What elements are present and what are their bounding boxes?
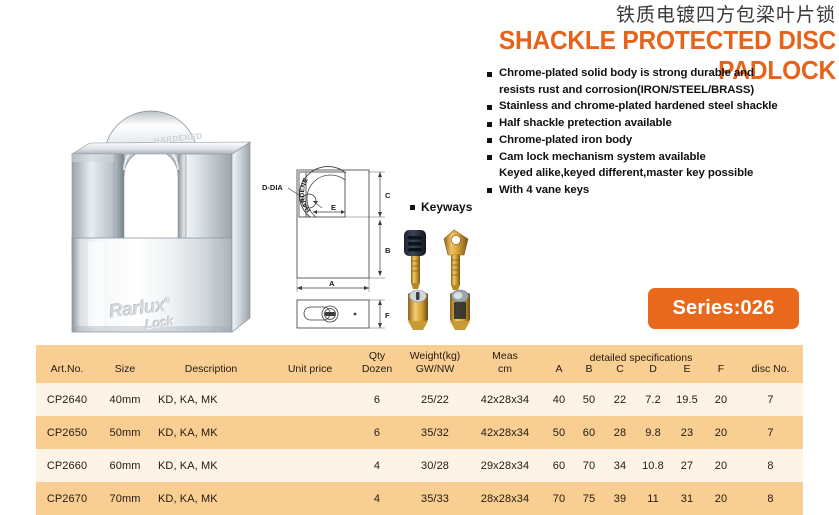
cell-a: 40 bbox=[544, 383, 574, 416]
feature-item: With 4 vane keys bbox=[487, 183, 837, 197]
cell-c: 28 bbox=[604, 416, 636, 449]
feature-item-continuation: resists rust and corrosion(IRON/STEEL/BR… bbox=[499, 83, 837, 97]
key-black-head bbox=[404, 230, 426, 289]
bullet-square-icon bbox=[410, 205, 415, 210]
feature-item-text: With 4 vane keys bbox=[499, 183, 589, 197]
cell-qty-dozen: 4 bbox=[350, 449, 404, 482]
keyways-images bbox=[398, 227, 498, 332]
feature-item-text: Cam lock mechanism system available bbox=[499, 150, 706, 164]
title-chinese: 铁质电镀四方包梁叶片锁 bbox=[404, 4, 836, 26]
cell-f: 20 bbox=[704, 416, 738, 449]
cell-weight: 35/33 bbox=[404, 482, 466, 515]
feature-item: Chrome-plated iron body bbox=[487, 133, 837, 147]
cell-c: 34 bbox=[604, 449, 636, 482]
cell-d: 11 bbox=[636, 482, 670, 515]
header-line-2: A bbox=[544, 363, 574, 375]
cell-e: 31 bbox=[670, 482, 704, 515]
header-line-2: B bbox=[574, 363, 604, 375]
cell-weight: 25/22 bbox=[404, 383, 466, 416]
cell-e: 27 bbox=[670, 449, 704, 482]
table-header-cell: E bbox=[670, 345, 704, 383]
feature-item-continuation: Keyed alike,keyed different,master key p… bbox=[499, 166, 837, 180]
cell-c: 22 bbox=[604, 383, 636, 416]
label-f: F bbox=[385, 311, 390, 320]
header-line-1: Unit price bbox=[270, 363, 350, 375]
cell-c: 39 bbox=[604, 482, 636, 515]
cell-f: 20 bbox=[704, 383, 738, 416]
table-row: CP264040mmKD, KA, MK625/2242x28x34405022… bbox=[36, 383, 803, 416]
cell-meas: 29x28x34 bbox=[466, 449, 544, 482]
dimension-diagram: D-DIA E C B A F HARDENE bbox=[258, 160, 408, 335]
cell-art-no: CP2640 bbox=[36, 383, 98, 416]
feature-item: Half shackle pretection available bbox=[487, 116, 837, 130]
cell-art-no: CP2670 bbox=[36, 482, 98, 515]
table-header-cell: Art.No. bbox=[36, 345, 98, 383]
table-header-cell: B bbox=[574, 345, 604, 383]
bullet-square-icon bbox=[487, 188, 492, 193]
table-header-cell: Size bbox=[98, 345, 152, 383]
table-row: CP266060mmKD, KA, MK430/2829x28x34607034… bbox=[36, 449, 803, 482]
cell-weight: 30/28 bbox=[404, 449, 466, 482]
bullet-square-icon bbox=[487, 138, 492, 143]
cell-description: KD, KA, MK bbox=[152, 383, 270, 416]
cell-meas: 42x28x34 bbox=[466, 416, 544, 449]
label-a: A bbox=[329, 279, 335, 288]
table-header-cell: A bbox=[544, 345, 574, 383]
cell-qty-dozen: 6 bbox=[350, 383, 404, 416]
cell-b: 70 bbox=[574, 449, 604, 482]
cell-b: 75 bbox=[574, 482, 604, 515]
header-line-2: C bbox=[604, 363, 636, 375]
catalog-page: 铁质电镀四方包梁叶片锁 SHACKLE PROTECTED DISC PADLO… bbox=[0, 0, 839, 508]
table-header-cell: F bbox=[704, 345, 738, 383]
cell-unit-price bbox=[270, 449, 350, 482]
cell-meas: 42x28x34 bbox=[466, 383, 544, 416]
bullet-square-icon bbox=[487, 155, 492, 160]
cell-meas: 28x28x34 bbox=[466, 482, 544, 515]
table-header-cell: Unit price bbox=[270, 345, 350, 383]
table-header-cell: Description bbox=[152, 345, 270, 383]
cell-size: 60mm bbox=[98, 449, 152, 482]
cell-d: 9.8 bbox=[636, 416, 670, 449]
series-badge: Series:026 bbox=[648, 288, 799, 329]
table-header-cell: C bbox=[604, 345, 636, 383]
feature-item: Cam lock mechanism system available bbox=[487, 150, 837, 164]
cell-description: KD, KA, MK bbox=[152, 482, 270, 515]
cell-unit-price bbox=[270, 416, 350, 449]
cell-disc-no: 7 bbox=[738, 383, 803, 416]
series-badge-label: Series:026 bbox=[672, 297, 774, 320]
header-line-2: Art.No. bbox=[36, 363, 98, 375]
keyways-illustration bbox=[398, 227, 498, 332]
cell-a: 60 bbox=[544, 449, 574, 482]
table-header-cell: D bbox=[636, 345, 670, 383]
cell-art-no: CP2660 bbox=[36, 449, 98, 482]
product-photo-padlock: HARDENED Rarlux® Lock bbox=[36, 50, 266, 340]
table-body: CP264040mmKD, KA, MK625/2242x28x34405022… bbox=[36, 383, 803, 515]
table-header-cell: QtyDozen bbox=[350, 345, 404, 383]
cell-a: 50 bbox=[544, 416, 574, 449]
cell-disc-no: 8 bbox=[738, 482, 803, 515]
header-line-1: Meas bbox=[466, 350, 544, 362]
technical-drawing: D-DIA E C B A F HARDENE bbox=[258, 160, 408, 335]
cell-qty-dozen: 4 bbox=[350, 482, 404, 515]
header-line-2: GW/NW bbox=[404, 363, 466, 375]
cell-b: 50 bbox=[574, 383, 604, 416]
table-header-row: Art.No.SizeDescriptionUnit priceQtyDozen… bbox=[36, 345, 803, 383]
bullet-square-icon bbox=[487, 72, 492, 77]
cell-b: 60 bbox=[574, 416, 604, 449]
cell-d: 10.8 bbox=[636, 449, 670, 482]
header-line-2: F bbox=[704, 363, 738, 375]
label-c: C bbox=[385, 191, 391, 200]
cylinder-plug-front bbox=[408, 290, 428, 330]
table-row: CP267070mmKD, KA, MK435/3328x28x34707539… bbox=[36, 482, 803, 515]
cell-size: 50mm bbox=[98, 416, 152, 449]
header-line-2: disc No. bbox=[738, 363, 803, 375]
spec-table: Art.No.SizeDescriptionUnit priceQtyDozen… bbox=[36, 345, 803, 515]
header-line-1: Qty bbox=[350, 350, 404, 362]
cylinder-plug-angled bbox=[450, 290, 470, 330]
key-brass-head bbox=[444, 230, 468, 290]
header-line-2: Size bbox=[98, 363, 152, 375]
feature-item-text: Chrome-plated iron body bbox=[499, 133, 632, 147]
header-line-2: cm bbox=[466, 363, 544, 375]
cell-size: 70mm bbox=[98, 482, 152, 515]
cell-e: 19.5 bbox=[670, 383, 704, 416]
feature-item-text: Chrome-plated solid body is strong durab… bbox=[499, 66, 754, 80]
table-header-cell: disc No. bbox=[738, 345, 803, 383]
bullet-square-icon bbox=[487, 105, 492, 110]
label-e: E bbox=[331, 203, 336, 212]
bullet-square-icon bbox=[487, 122, 492, 127]
feature-item-text: Stainless and chrome-plated hardened ste… bbox=[499, 99, 778, 113]
cell-a: 70 bbox=[544, 482, 574, 515]
padlock-illustration bbox=[36, 50, 266, 340]
cell-unit-price bbox=[270, 482, 350, 515]
keyways-label-text: Keyways bbox=[421, 200, 472, 214]
feature-item: Stainless and chrome-plated hardened ste… bbox=[487, 99, 837, 113]
header-line-2: D bbox=[636, 363, 670, 375]
cell-weight: 35/32 bbox=[404, 416, 466, 449]
feature-list: Chrome-plated solid body is strong durab… bbox=[487, 66, 837, 200]
cell-description: KD, KA, MK bbox=[152, 416, 270, 449]
keyways-label: Keyways bbox=[410, 200, 472, 214]
header-line-2: Dozen bbox=[350, 363, 404, 375]
cell-f: 20 bbox=[704, 482, 738, 515]
table-row: CP265050mmKD, KA, MK635/3242x28x34506028… bbox=[36, 416, 803, 449]
feature-item: Chrome-plated solid body is strong durab… bbox=[487, 66, 837, 80]
header-line-1: Weight(kg) bbox=[404, 350, 466, 362]
header-line-2: Description bbox=[152, 363, 270, 375]
header-line-2: E bbox=[670, 363, 704, 375]
cell-f: 20 bbox=[704, 449, 738, 482]
cell-art-no: CP2650 bbox=[36, 416, 98, 449]
table-head: Art.No.SizeDescriptionUnit priceQtyDozen… bbox=[36, 345, 803, 383]
specification-table: Art.No.SizeDescriptionUnit priceQtyDozen… bbox=[36, 345, 803, 515]
cell-description: KD, KA, MK bbox=[152, 449, 270, 482]
cell-e: 23 bbox=[670, 416, 704, 449]
label-b: B bbox=[385, 246, 391, 255]
cell-unit-price bbox=[270, 383, 350, 416]
cell-size: 40mm bbox=[98, 383, 152, 416]
table-header-cell: Meascm bbox=[466, 345, 544, 383]
cell-d: 7.2 bbox=[636, 383, 670, 416]
cell-disc-no: 8 bbox=[738, 449, 803, 482]
table-header-cell: Weight(kg)GW/NW bbox=[404, 345, 466, 383]
cell-disc-no: 7 bbox=[738, 416, 803, 449]
feature-item-text: Half shackle pretection available bbox=[499, 116, 672, 130]
cell-qty-dozen: 6 bbox=[350, 416, 404, 449]
label-d-dia: D-DIA bbox=[262, 183, 283, 192]
